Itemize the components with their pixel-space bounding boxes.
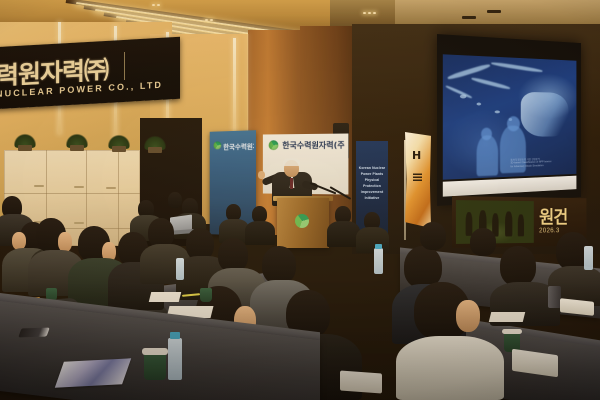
flag-emblem-secondary bbox=[413, 172, 422, 181]
cabinet-handle[interactable] bbox=[106, 187, 116, 189]
projection-slide: 원자력 발전소의 가상 현장분석 3D-based Classification… bbox=[443, 54, 577, 179]
cabinet-seam bbox=[118, 150, 119, 246]
attendee-torso bbox=[396, 336, 504, 400]
document-blue[interactable] bbox=[55, 358, 131, 387]
map-coastline bbox=[447, 63, 491, 81]
khnp-logo-icon bbox=[269, 140, 279, 150]
paper-cup-lid bbox=[142, 348, 168, 355]
attendee-head bbox=[262, 246, 296, 284]
attendee-torso bbox=[356, 227, 389, 253]
wall-sign-divider bbox=[124, 52, 125, 80]
speaker-hair bbox=[283, 158, 300, 166]
ceiling-vent bbox=[487, 10, 501, 13]
plant-pot bbox=[148, 147, 162, 153]
figure bbox=[518, 214, 524, 236]
projection-screen: 원자력 발전소의 가상 현장분석 3D-based Classification… bbox=[437, 34, 581, 206]
map-coastline bbox=[445, 85, 472, 99]
display-date: 2026.3 bbox=[539, 228, 560, 235]
speaker-hand bbox=[258, 171, 265, 179]
khnp-logo-icon bbox=[214, 141, 222, 149]
banner-blue-line-3: Physical Protection bbox=[358, 177, 386, 189]
water-bottle[interactable] bbox=[176, 258, 184, 280]
person-silhouette bbox=[477, 135, 499, 176]
attendee-head bbox=[420, 222, 446, 250]
cabinet-seam bbox=[4, 193, 140, 194]
downlight bbox=[373, 12, 376, 14]
downlight bbox=[210, 19, 213, 21]
conference-photo: 력원자력㈜ NUCLEAR POWER CO., LTD bbox=[0, 0, 600, 400]
attendee-head bbox=[470, 228, 496, 256]
podium-khnp-logo-icon bbox=[295, 214, 309, 228]
water-bottle[interactable] bbox=[374, 248, 383, 274]
lunch-box[interactable] bbox=[340, 371, 382, 394]
plant-pot bbox=[18, 145, 32, 151]
water-bottle[interactable] bbox=[584, 246, 593, 270]
map-coastline bbox=[471, 77, 510, 91]
banner-blue-text: Korean Nuclear Power Plants Physical Pro… bbox=[358, 165, 386, 201]
map-coastline bbox=[491, 61, 543, 73]
figure bbox=[466, 212, 473, 236]
cabinet-handle[interactable] bbox=[74, 222, 84, 224]
plant-pot bbox=[112, 146, 126, 152]
attendee-head bbox=[218, 238, 248, 272]
figure bbox=[505, 211, 512, 236]
water-bottle-cap[interactable] bbox=[170, 332, 180, 339]
flag-emblem: Η bbox=[412, 150, 423, 163]
ceremonial-flag bbox=[405, 132, 431, 230]
ceiling-vent bbox=[462, 16, 476, 19]
banner-center-org-text: 한국수력원자력(주) bbox=[282, 140, 344, 151]
attendee-face bbox=[58, 232, 72, 252]
paper-cup[interactable] bbox=[144, 352, 166, 380]
attendee-face bbox=[456, 300, 480, 332]
paper-cup-lid bbox=[502, 329, 522, 334]
flag-pole bbox=[404, 140, 406, 240]
downlight bbox=[157, 4, 160, 6]
water-bottle[interactable] bbox=[168, 338, 182, 380]
slide-caption: 원자력 발전소의 가상 현장분석 3D-based Classification… bbox=[510, 157, 571, 169]
display-headline: 원건 bbox=[539, 203, 567, 228]
document-paper[interactable] bbox=[149, 292, 181, 302]
person-silhouette-head bbox=[507, 116, 520, 131]
attendee-torso bbox=[245, 221, 275, 245]
banner-left-org-text: 한국수력원자력 bbox=[223, 140, 254, 151]
map-island bbox=[460, 94, 467, 98]
downlight bbox=[152, 4, 155, 6]
downlight bbox=[368, 12, 371, 14]
person-silhouette-head bbox=[481, 128, 492, 141]
document-paper[interactable] bbox=[489, 312, 525, 322]
map-island bbox=[477, 103, 482, 106]
downlight bbox=[363, 12, 366, 14]
attendee-head bbox=[168, 192, 182, 208]
downlight bbox=[205, 19, 208, 21]
map-facility-site bbox=[521, 92, 569, 137]
plant-pot bbox=[70, 145, 84, 151]
cabinet-handle[interactable] bbox=[34, 185, 44, 187]
cabinet-handle[interactable] bbox=[74, 186, 84, 188]
attendee-head bbox=[500, 246, 536, 286]
banner-blue-line-4: Improvement Initiative bbox=[358, 189, 386, 201]
water-bottle-cap[interactable] bbox=[375, 244, 382, 249]
map-island bbox=[495, 110, 500, 113]
speaker-tie bbox=[290, 178, 293, 189]
paper-cup[interactable] bbox=[200, 288, 212, 302]
smartphone[interactable] bbox=[18, 328, 50, 338]
